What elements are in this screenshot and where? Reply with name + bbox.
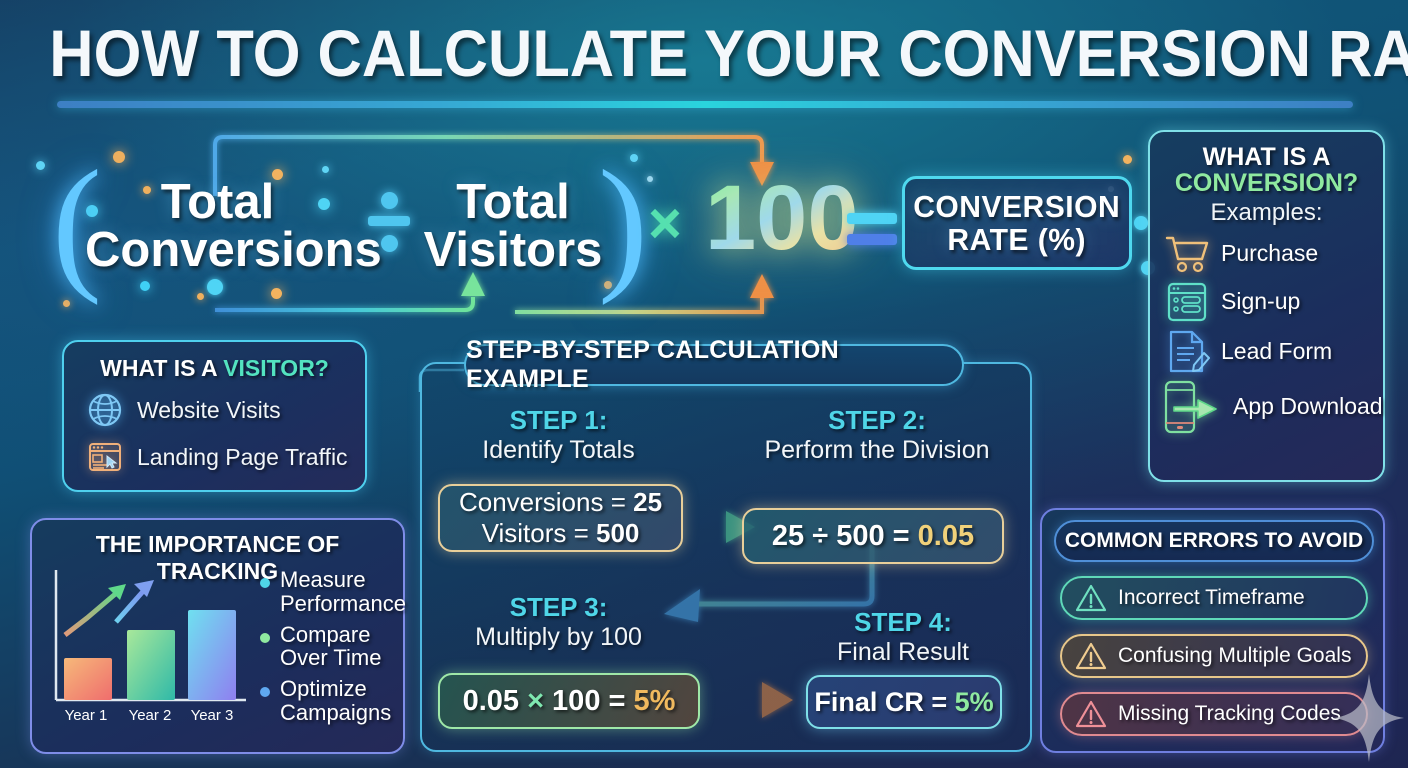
formula-numerator: Total Conversions bbox=[85, 178, 350, 274]
conversion-item-label: Purchase bbox=[1221, 241, 1318, 265]
warning-triangle-icon bbox=[1075, 641, 1107, 671]
conversion-panel-title: WHAT IS A CONVERSION? bbox=[1150, 144, 1383, 197]
tracking-bullet: Optimize Campaigns bbox=[260, 677, 400, 725]
close-paren-icon: ) bbox=[598, 148, 648, 298]
step-1-line-2: Visitors = 500 bbox=[482, 518, 640, 549]
step-4-line-1: Final CR = 5% bbox=[814, 687, 993, 718]
step-1-card: Conversions = 25 Visitors = 500 bbox=[438, 484, 683, 552]
tracking-bullet-label: Measure Performance bbox=[280, 568, 406, 616]
errors-title-badge: COMMON ERRORS TO AVOID bbox=[1054, 520, 1374, 562]
error-item-incorrect-timeframe: Incorrect Timeframe bbox=[1060, 576, 1368, 620]
step-1-number: STEP 1: bbox=[436, 405, 681, 436]
multiply-symbol: × bbox=[648, 190, 682, 257]
step-3-title: STEP 3: Multiply by 100 bbox=[436, 592, 681, 652]
final-cr-value: 5% bbox=[955, 687, 994, 717]
step-2-number: STEP 2: bbox=[752, 405, 1002, 436]
conversion-item-signup: Sign-up bbox=[1164, 281, 1383, 323]
title-underline bbox=[57, 101, 1353, 108]
divide-icon bbox=[368, 192, 410, 254]
step-2-line-1: 25 ÷ 500 = 0.05 bbox=[772, 520, 974, 553]
bullet-dot-icon bbox=[260, 633, 270, 643]
multiply-result-value: 5% bbox=[634, 685, 676, 717]
shopping-cart-icon bbox=[1164, 233, 1210, 275]
tracking-bullet-label: Compare Over Time bbox=[280, 623, 400, 671]
step-3-number: STEP 3: bbox=[436, 592, 681, 623]
tracking-bullet-list: Measure Performance Compare Over Time Op… bbox=[260, 568, 400, 732]
denominator-line-1: Total bbox=[418, 178, 608, 226]
step-4-title: STEP 4: Final Result bbox=[790, 607, 1016, 667]
chart-tick-label: Year 3 bbox=[191, 707, 234, 724]
bullet-dot-icon bbox=[260, 578, 270, 588]
conversion-item-lead-form: Lead Form bbox=[1164, 329, 1383, 375]
decor-dot bbox=[140, 281, 150, 291]
conversion-head-line-1: WHAT IS A bbox=[1150, 144, 1383, 170]
lead-form-pencil-icon bbox=[1164, 329, 1210, 375]
step-2-desc: Perform the Division bbox=[752, 436, 1002, 465]
division-result-value: 0.05 bbox=[918, 520, 974, 552]
error-item-missing-tracking-codes: Missing Tracking Codes bbox=[1060, 692, 1368, 736]
infographic-canvas: HOW TO CALCULATE YOUR CONVERSION RATE bbox=[0, 0, 1408, 768]
errors-title-label: COMMON ERRORS TO AVOID bbox=[1065, 529, 1363, 553]
visitor-item-label: Website Visits bbox=[137, 397, 281, 424]
denominator-line-2: Visitors bbox=[418, 226, 608, 274]
visitor-panel-title: WHAT IS A VISITOR? bbox=[64, 355, 365, 382]
error-item-label: Incorrect Timeframe bbox=[1118, 586, 1305, 610]
step-2-card: 25 ÷ 500 = 0.05 bbox=[742, 508, 1004, 564]
step-3-card: 0.05 × 100 = 5% bbox=[438, 673, 700, 729]
tracking-bar-chart: Year 1 Year 2 Year 3 bbox=[46, 562, 256, 737]
conversion-item-app-download: App Download bbox=[1164, 379, 1383, 435]
decor-dot bbox=[322, 166, 329, 173]
visitor-item-label: Landing Page Traffic bbox=[137, 444, 348, 471]
warning-triangle-icon bbox=[1075, 583, 1107, 613]
equals-icon bbox=[847, 213, 897, 253]
step-4-card: Final CR = 5% bbox=[806, 675, 1002, 729]
step-1-title: STEP 1: Identify Totals bbox=[436, 405, 681, 465]
bullet-dot-icon bbox=[260, 687, 270, 697]
sparkle-decoration-icon bbox=[1332, 672, 1406, 764]
result-line-1: CONVERSION bbox=[913, 190, 1120, 223]
steps-title-badge: STEP-BY-STEP CALCULATION EXAMPLE bbox=[464, 344, 964, 386]
visitor-head-accent: VISITOR? bbox=[223, 355, 329, 381]
visitor-item-landing-page-traffic: Landing Page Traffic bbox=[86, 438, 365, 476]
conversion-item-purchase: Purchase bbox=[1164, 233, 1383, 275]
visitor-head-prefix: WHAT IS A bbox=[100, 355, 223, 381]
conversion-panel: WHAT IS A CONVERSION? Examples: Purchase bbox=[1148, 130, 1385, 482]
decor-dot bbox=[197, 293, 204, 300]
conversion-item-label: App Download bbox=[1233, 394, 1383, 418]
visitor-item-website-visits: Website Visits bbox=[86, 391, 365, 429]
numerator-line-1: Total bbox=[85, 178, 350, 226]
browser-window-cursor-icon bbox=[86, 438, 124, 476]
step-3-desc: Multiply by 100 bbox=[436, 623, 681, 652]
page-title: HOW TO CALCULATE YOUR CONVERSION RATE bbox=[49, 20, 1358, 86]
conversions-value: 25 bbox=[633, 487, 662, 517]
error-item-label: Missing Tracking Codes bbox=[1118, 702, 1341, 726]
signup-form-icon bbox=[1164, 281, 1210, 323]
visitor-panel: WHAT IS A VISITOR? Website Visits bbox=[62, 340, 367, 492]
conversion-item-label: Lead Form bbox=[1221, 339, 1332, 363]
step-1-desc: Identify Totals bbox=[436, 436, 681, 465]
step-4-desc: Final Result bbox=[790, 638, 1016, 667]
tracking-bullet-label: Optimize Campaigns bbox=[280, 677, 400, 725]
conversion-item-label: Sign-up bbox=[1221, 289, 1300, 313]
step-3-line-1: 0.05 × 100 = 5% bbox=[463, 685, 676, 718]
chart-tick-label: Year 2 bbox=[129, 707, 172, 724]
hundred-value: 100 bbox=[705, 172, 859, 264]
steps-title-label: STEP-BY-STEP CALCULATION EXAMPLE bbox=[466, 336, 962, 394]
step-2-title: STEP 2: Perform the Division bbox=[752, 405, 1002, 465]
tracking-bullet: Measure Performance bbox=[260, 568, 400, 616]
decor-dot bbox=[1123, 155, 1132, 164]
error-item-confusing-multiple-goals: Confusing Multiple Goals bbox=[1060, 634, 1368, 678]
error-item-label: Confusing Multiple Goals bbox=[1118, 644, 1351, 668]
conversion-rate-result-box: CONVERSION RATE (%) bbox=[902, 176, 1132, 270]
numerator-line-2: Conversions bbox=[85, 226, 350, 274]
warning-triangle-icon bbox=[1075, 699, 1107, 729]
step-4-number: STEP 4: bbox=[790, 607, 1016, 638]
mobile-app-download-icon bbox=[1160, 379, 1222, 435]
tracking-bullet: Compare Over Time bbox=[260, 623, 400, 671]
decor-dot bbox=[36, 161, 45, 170]
decor-dot bbox=[113, 151, 125, 163]
visitors-value: 500 bbox=[596, 518, 639, 548]
formula-denominator: Total Visitors bbox=[418, 178, 608, 274]
tracking-panel: THE IMPORTANCE OF TRACKING bbox=[30, 518, 405, 754]
examples-label: Examples: bbox=[1150, 199, 1383, 227]
decor-dot bbox=[271, 288, 282, 299]
chart-tick-label: Year 1 bbox=[65, 707, 108, 724]
globe-icon bbox=[86, 391, 124, 429]
conversion-head-line-2: CONVERSION? bbox=[1150, 170, 1383, 196]
step-1-line-1: Conversions = 25 bbox=[459, 487, 662, 518]
result-line-2: RATE (%) bbox=[913, 223, 1120, 256]
